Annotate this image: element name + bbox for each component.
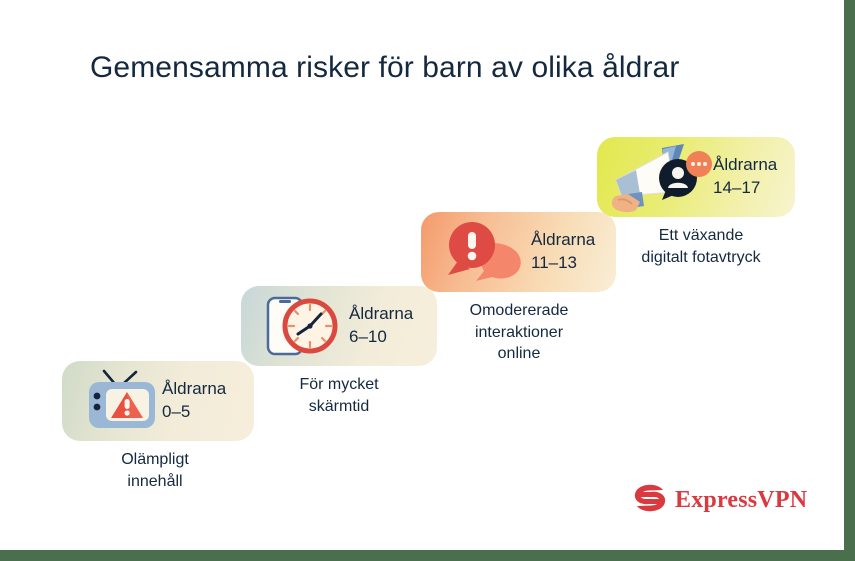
- phone-clock-icon: [257, 291, 349, 361]
- age-label-0-5: Åldrarna 0–5: [162, 378, 226, 424]
- expressvpn-mark-icon: [633, 484, 667, 517]
- caption-0-5: Olämpligt innehåll: [74, 449, 236, 492]
- caption-11-13: Omodererade interaktioner online: [439, 300, 599, 365]
- age-card-0-5[interactable]: Åldrarna 0–5: [62, 361, 254, 441]
- expressvpn-wordmark: ExpressVPN: [675, 487, 807, 514]
- speech-bubbles-alert-icon: [435, 216, 531, 288]
- slide-canvas: Gemensamma risker för barn av olika åldr…: [0, 0, 855, 561]
- age-label-11-13: Åldrarna 11–13: [531, 229, 595, 275]
- age-label-14-17: Åldrarna 14–17: [713, 154, 777, 200]
- megaphone-social-icon: [605, 139, 713, 215]
- frame-bottom-accent: [0, 550, 855, 561]
- age-label-6-10: Åldrarna 6–10: [349, 303, 413, 349]
- caption-6-10: För mycket skärmtid: [257, 374, 421, 417]
- tv-warning-icon: [82, 367, 162, 435]
- expressvpn-logo[interactable]: ExpressVPN: [633, 484, 807, 517]
- frame-right-accent: [844, 0, 855, 561]
- age-card-11-13[interactable]: Åldrarna 11–13: [421, 212, 616, 292]
- caption-14-17: Ett växande digitalt fotavtryck: [621, 225, 781, 268]
- age-card-6-10[interactable]: Åldrarna 6–10: [241, 286, 437, 366]
- page-title: Gemensamma risker för barn av olika åldr…: [90, 50, 790, 86]
- age-card-14-17[interactable]: Åldrarna 14–17: [597, 137, 795, 217]
